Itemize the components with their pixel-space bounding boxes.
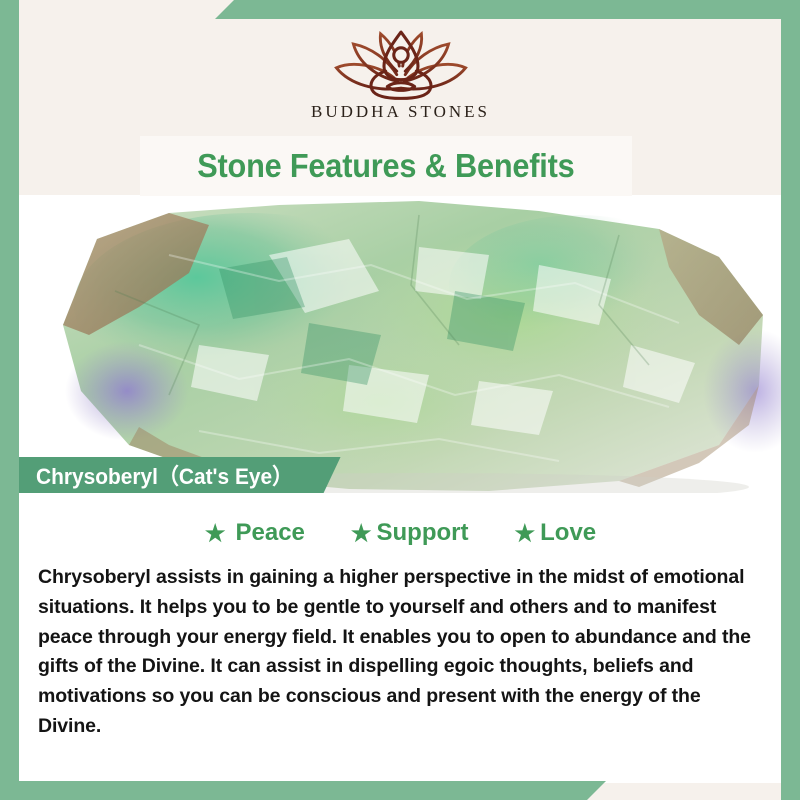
features-row: ★ Peace ★ Support ★ Love — [19, 493, 782, 547]
page-title: Stone Features & Benefits — [197, 147, 574, 185]
stone-name-banner: Chrysoberyl（Cat's Eye） — [19, 457, 341, 493]
lotus-meditation-icon — [316, 27, 486, 105]
feature-love: ★ Love — [515, 519, 597, 547]
star-icon: ★ — [351, 522, 372, 545]
section-title-banner: Stone Features & Benefits — [140, 136, 632, 196]
info-card: BUDDHA STONES Stone Features & Benefits — [19, 19, 782, 783]
feature-label-support: Support — [377, 519, 469, 547]
content-panel: ★ Peace ★ Support ★ Love Chrysoberyl ass… — [19, 493, 782, 783]
stone-photo — [19, 195, 782, 493]
star-icon: ★ — [515, 522, 536, 545]
frame-bottom-bar — [0, 781, 606, 800]
feature-support: ★ Support — [351, 519, 469, 547]
frame-right-bar — [781, 0, 800, 800]
feature-peace: ★ Peace — [205, 519, 305, 547]
frame-left-bar — [0, 0, 19, 800]
stone-name: Chrysoberyl（Cat's Eye） — [36, 459, 293, 491]
brand-header: BUDDHA STONES — [19, 19, 782, 136]
brand-name: BUDDHA STONES — [311, 102, 490, 122]
feature-label-love: Love — [540, 519, 596, 547]
feature-label-peace: Peace — [235, 519, 304, 547]
frame-top-bar — [215, 0, 800, 19]
stone-description: Chrysoberyl assists in gaining a higher … — [38, 563, 764, 742]
star-icon: ★ — [205, 522, 226, 545]
